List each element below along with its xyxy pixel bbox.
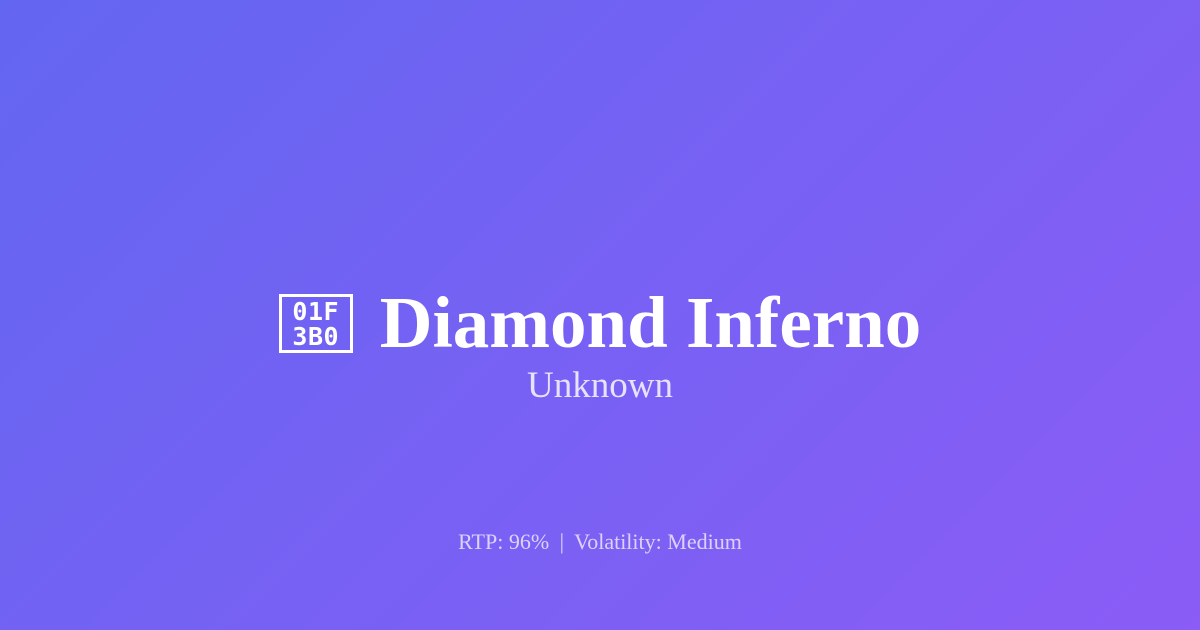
game-preview-card: 01F 3B0 Diamond Inferno Unknown RTP: 96%… (0, 0, 1200, 630)
game-stats: RTP: 96% | Volatility: Medium (0, 527, 1200, 557)
rtp-value: 96% (509, 529, 549, 554)
rtp-label: RTP: (458, 529, 503, 554)
stats-separator: | (555, 529, 569, 554)
page-title: Diamond Inferno (380, 282, 921, 364)
volatility-value: Medium (667, 529, 742, 554)
codepoint-line-bottom: 3B0 (292, 324, 339, 349)
provider-name: Unknown (0, 362, 1200, 410)
codepoint-line-top: 01F (292, 299, 339, 324)
volatility-label: Volatility: (574, 529, 662, 554)
slot-machine-icon: 01F 3B0 (279, 294, 353, 353)
